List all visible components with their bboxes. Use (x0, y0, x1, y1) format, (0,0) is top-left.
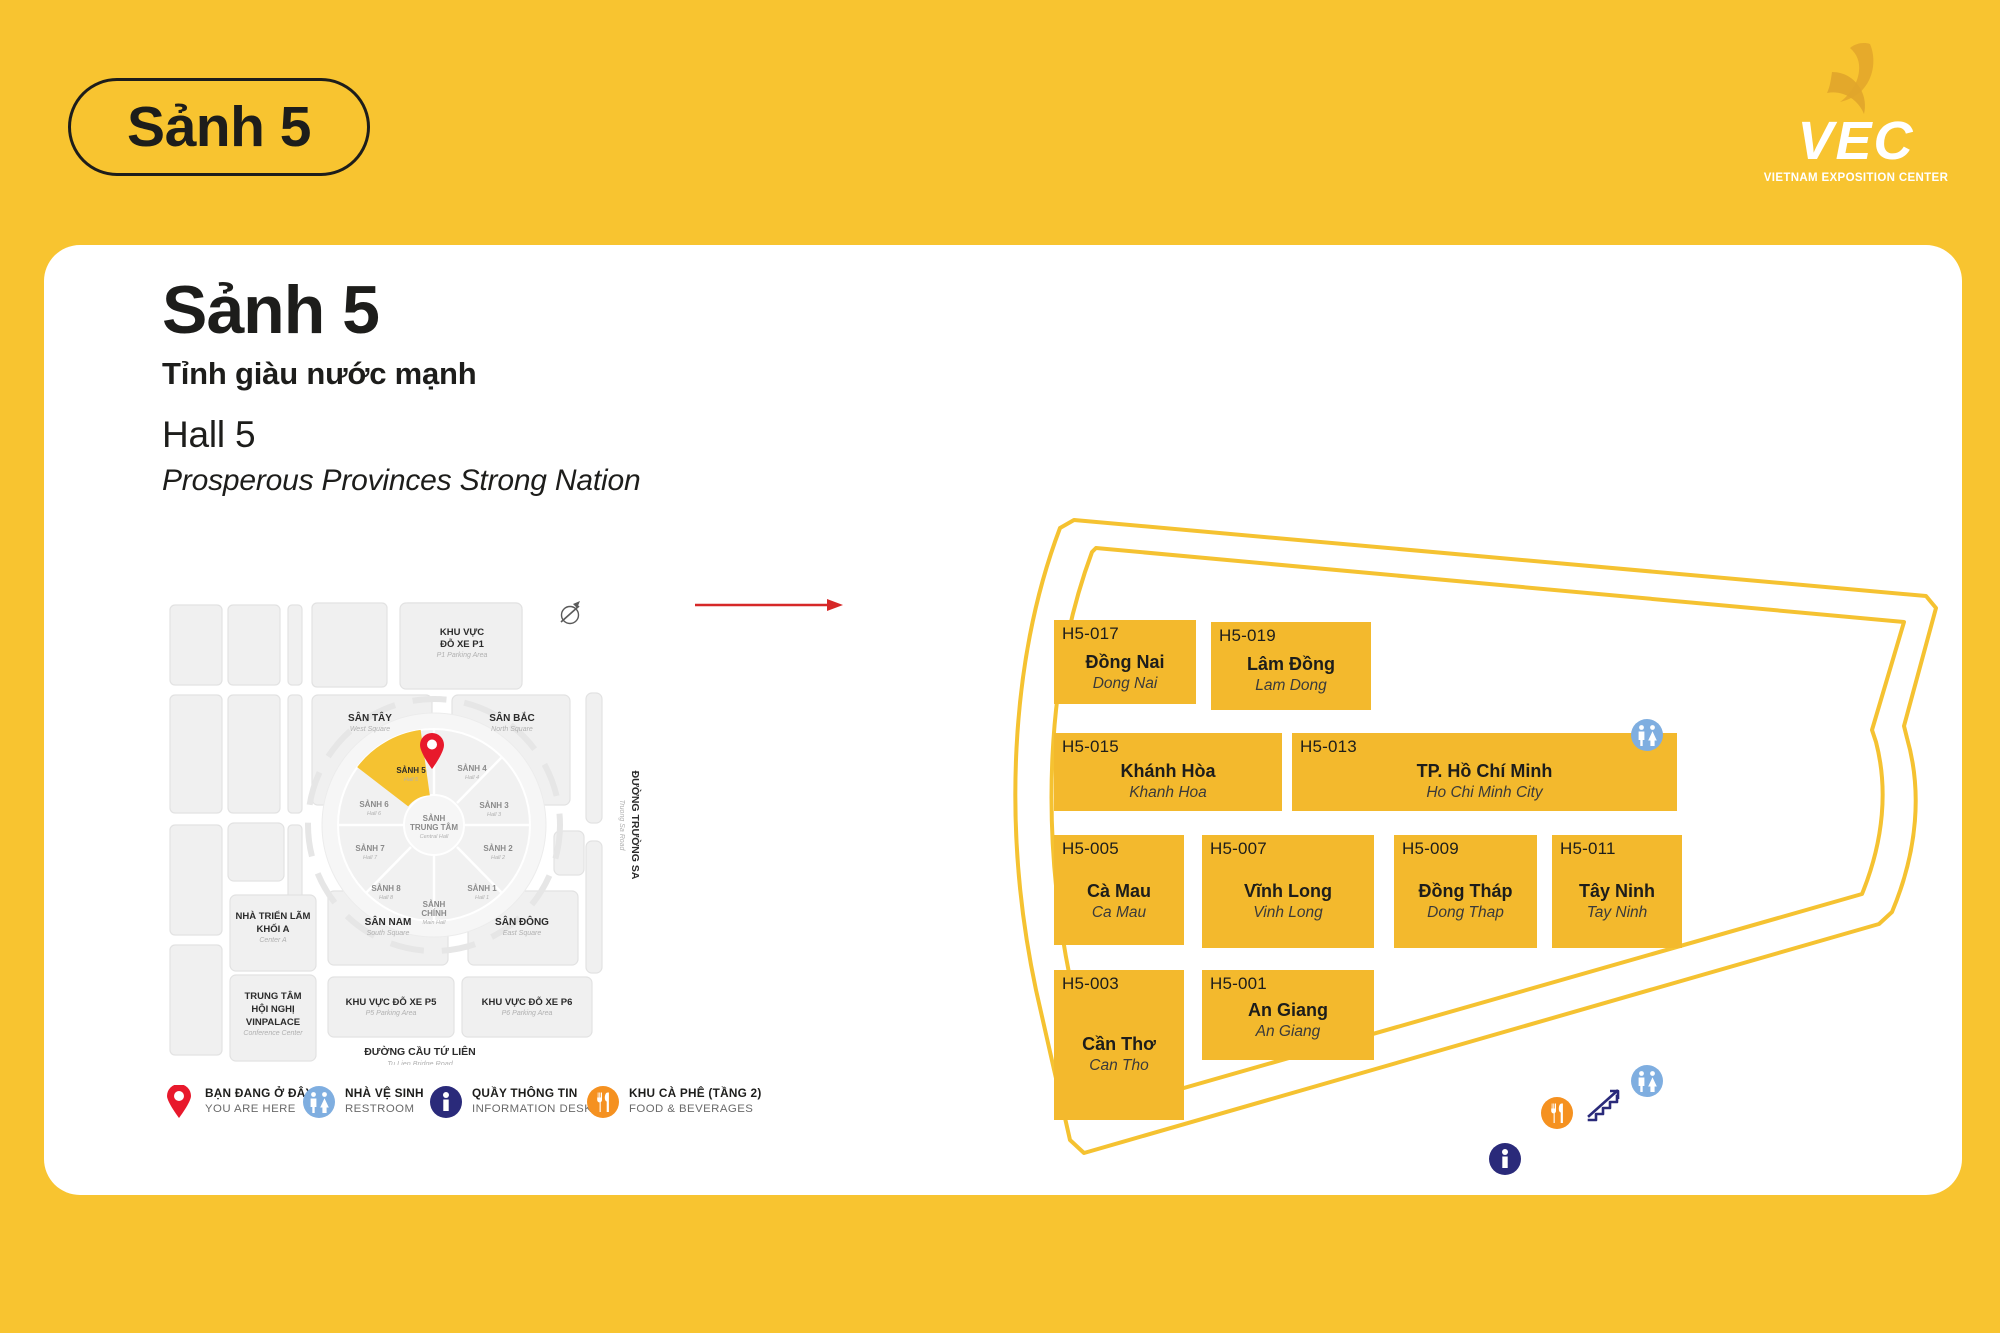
booth-name-en: Dong Nai (1054, 674, 1196, 695)
booth-h5-005[interactable]: H5-005 Cà Mau Ca Mau (1054, 835, 1184, 945)
restroom-icon (1630, 718, 1664, 752)
booth-h5-007[interactable]: H5-007 Vĩnh Long Vinh Long (1202, 835, 1374, 948)
legend-label-en: INFORMATION DESK (472, 1102, 592, 1117)
svg-text:CHÍNH: CHÍNH (421, 909, 447, 918)
site-overview-map[interactable]: KHU VỰC ĐỖ XE P1 P1 Parking Area SÂN TÂY… (162, 595, 722, 1065)
svg-text:Conference Center: Conference Center (243, 1030, 303, 1037)
booth-name-vi: Cà Mau (1054, 879, 1184, 903)
booth-code: H5-017 (1062, 624, 1119, 644)
restroom-icon (1630, 1064, 1664, 1098)
poster-root: Sảnh 5 VEC VIETNAM EXPOSITION CENTER Sản… (0, 0, 2000, 1333)
booth-code: H5-005 (1062, 839, 1119, 859)
booth-name-en: Tay Ninh (1552, 903, 1682, 924)
booth-h5-009[interactable]: H5-009 Đồng Tháp Dong Thap (1394, 835, 1537, 948)
svg-text:NHÀ TRIỂN LÃM: NHÀ TRIỂN LÃM (236, 910, 311, 922)
booth-code: H5-001 (1210, 974, 1267, 994)
booth-name-vi: Tây Ninh (1552, 879, 1682, 903)
legend-item-you-are-here: BẠN ĐANG Ở ĐÂY YOU ARE HERE (162, 1085, 314, 1119)
page-subtitle-en: Prosperous Provinces Strong Nation (162, 464, 922, 498)
booth-name-en: Lam Dong (1211, 676, 1371, 697)
svg-text:SẢNH 5: SẢNH 5 (396, 766, 426, 775)
svg-text:SÂN NAM: SÂN NAM (365, 915, 412, 928)
booth-name-vi: Lâm Đồng (1211, 652, 1371, 676)
vec-wordmark: VEC (1736, 114, 1976, 168)
legend-label-en: RESTROOM (345, 1102, 424, 1117)
svg-text:KHU VỰC ĐỖ XE P6: KHU VỰC ĐỖ XE P6 (482, 996, 573, 1008)
vec-bird-mark-icon (1810, 42, 1906, 118)
booth-h5-013[interactable]: H5-013 TP. Hồ Chí Minh Ho Chi Minh City (1292, 733, 1677, 811)
svg-text:Hall 4: Hall 4 (465, 775, 479, 781)
booth-code: H5-003 (1062, 974, 1119, 994)
svg-text:SÂN TÂY: SÂN TÂY (348, 711, 392, 724)
svg-text:SÂN BẮC: SÂN BẮC (489, 711, 535, 724)
page-title-en: Hall 5 (162, 414, 922, 456)
page-title-vi: Sảnh 5 (162, 275, 922, 346)
svg-text:ĐỖ XE P1: ĐỖ XE P1 (440, 638, 485, 650)
booth-name-en: Vinh Long (1202, 903, 1374, 924)
svg-text:Hall 6: Hall 6 (367, 811, 382, 817)
legend-label-vi: QUẦY THÔNG TIN (472, 1086, 592, 1102)
svg-text:SẢNH: SẢNH (423, 900, 446, 909)
svg-text:Central Hall: Central Hall (420, 834, 450, 840)
svg-text:HỘI NGHỊ: HỘI NGHỊ (251, 1003, 294, 1015)
svg-text:ĐƯỜNG TRƯỜNG SA: ĐƯỜNG TRƯỜNG SA (629, 771, 642, 880)
booth-code: H5-009 (1402, 839, 1459, 859)
svg-text:Hall 5: Hall 5 (404, 777, 419, 783)
booth-name-vi: Cần Thơ (1054, 1032, 1184, 1056)
booth-code: H5-007 (1210, 839, 1267, 859)
booth-h5-001[interactable]: H5-001 An Giang An Giang (1202, 970, 1374, 1060)
information-icon (1488, 1142, 1522, 1176)
svg-text:TRUNG TÂM: TRUNG TÂM (245, 990, 302, 1002)
booth-name-en: An Giang (1202, 1022, 1374, 1043)
svg-text:South Square: South Square (367, 930, 410, 937)
svg-text:West Square: West Square (350, 726, 390, 733)
page-subtitle-vi: Tỉnh giàu nước mạnh (162, 356, 922, 392)
svg-text:Hall 7: Hall 7 (363, 855, 378, 861)
pointer-arrow-icon (695, 595, 845, 615)
booth-name-vi: Vĩnh Long (1202, 879, 1374, 903)
booth-name-vi: An Giang (1202, 998, 1374, 1022)
food-icon (1540, 1096, 1574, 1130)
hall-badge: Sảnh 5 (68, 78, 370, 176)
booth-name-vi: TP. Hồ Chí Minh (1292, 759, 1677, 783)
booth-name-en: Dong Thap (1394, 903, 1537, 924)
information-icon (429, 1085, 463, 1119)
svg-text:Tu Lien Bridge Road: Tu Lien Bridge Road (387, 1059, 453, 1065)
left-panel: Sảnh 5 Tỉnh giàu nước mạnh Hall 5 Prospe… (162, 275, 922, 1165)
svg-text:ĐƯỜNG CẦU TỨ LIÊN: ĐƯỜNG CẦU TỨ LIÊN (364, 1045, 476, 1058)
booth-h5-015[interactable]: H5-015 Khánh Hòa Khanh Hoa (1054, 733, 1282, 811)
svg-text:Truong Sa Road: Truong Sa Road (618, 800, 625, 852)
vec-subtitle: VIETNAM EXPOSITION CENTER (1736, 172, 1976, 184)
svg-text:Main Hall: Main Hall (423, 920, 447, 926)
map-pin-icon (162, 1085, 196, 1119)
legend-label-en: FOOD & BEVERAGES (629, 1102, 762, 1117)
map-legend: BẠN ĐANG Ở ĐÂY YOU ARE HERE NHÀ VỆ SINH (162, 1075, 862, 1135)
booth-h5-017[interactable]: H5-017 Đồng Nai Dong Nai (1054, 620, 1196, 704)
booth-name-en: Ho Chi Minh City (1292, 783, 1677, 804)
svg-text:P6 Parking Area: P6 Parking Area (502, 1010, 553, 1017)
svg-text:SẢNH 4: SẢNH 4 (457, 764, 487, 773)
svg-text:TRUNG TÂM: TRUNG TÂM (410, 823, 458, 832)
legend-label-vi: BẠN ĐANG Ở ĐÂY (205, 1086, 314, 1102)
svg-text:SẢNH 8: SẢNH 8 (371, 884, 401, 893)
svg-text:Hall 2: Hall 2 (491, 855, 505, 861)
svg-text:SẢNH 7: SẢNH 7 (355, 844, 385, 853)
booth-code: H5-011 (1560, 839, 1616, 859)
hall-floor-plan[interactable]: H5-017 Đồng Nai Dong Nai H5-019 Lâm Đồng… (974, 190, 1964, 1200)
compass-icon (561, 601, 580, 624)
svg-text:SẢNH 3: SẢNH 3 (479, 801, 509, 810)
escalator-icon (1585, 1086, 1627, 1126)
svg-text:KHU VỰC ĐỖ XE P5: KHU VỰC ĐỖ XE P5 (346, 996, 437, 1008)
booth-code: H5-013 (1300, 737, 1357, 757)
booth-name-en: Khanh Hoa (1054, 783, 1282, 804)
booth-name-en: Can Tho (1054, 1056, 1184, 1077)
hall-badge-label: Sảnh 5 (127, 94, 311, 160)
content-card: Sảnh 5 Tỉnh giàu nước mạnh Hall 5 Prospe… (44, 245, 1962, 1195)
booth-name-vi: Đồng Nai (1054, 650, 1196, 674)
svg-text:Hall 1: Hall 1 (475, 895, 489, 901)
booth-h5-011[interactable]: H5-011 Tây Ninh Tay Ninh (1552, 835, 1682, 948)
svg-text:KHỐI A: KHỐI A (257, 923, 290, 935)
booth-code: H5-015 (1062, 737, 1119, 757)
svg-text:SẢNH 1: SẢNH 1 (467, 884, 497, 893)
legend-label-en: YOU ARE HERE (205, 1102, 314, 1117)
booth-name-vi: Khánh Hòa (1054, 759, 1282, 783)
legend-item-restroom: NHÀ VỆ SINH RESTROOM (302, 1085, 424, 1119)
food-icon (586, 1085, 620, 1119)
legend-item-food: KHU CÀ PHÊ (TẦNG 2) FOOD & BEVERAGES (586, 1085, 762, 1119)
svg-text:P1 Parking Area: P1 Parking Area (437, 652, 488, 659)
svg-text:SẢNH 6: SẢNH 6 (359, 800, 389, 809)
booth-name-en: Ca Mau (1054, 903, 1184, 924)
svg-text:Hall 3: Hall 3 (487, 812, 502, 818)
svg-text:SẢNH 2: SẢNH 2 (483, 844, 513, 853)
legend-label-vi: NHÀ VỆ SINH (345, 1086, 424, 1102)
legend-label-vi: KHU CÀ PHÊ (TẦNG 2) (629, 1086, 762, 1102)
booth-h5-003[interactable]: H5-003 Cần Thơ Can Tho (1054, 970, 1184, 1120)
svg-text:P5 Parking Area: P5 Parking Area (366, 1010, 417, 1017)
booth-name-vi: Đồng Tháp (1394, 879, 1537, 903)
booth-code: H5-019 (1219, 626, 1276, 646)
restroom-icon (302, 1085, 336, 1119)
svg-text:North Square: North Square (491, 726, 533, 733)
svg-text:VINPALACE: VINPALACE (246, 1017, 300, 1028)
svg-text:Hall 8: Hall 8 (379, 895, 394, 901)
legend-item-information: QUẦY THÔNG TIN INFORMATION DESK (429, 1085, 592, 1119)
svg-text:SẢNH: SẢNH (423, 814, 446, 823)
vec-logo: VEC VIETNAM EXPOSITION CENTER (1736, 40, 1976, 180)
svg-text:SÂN ĐÔNG: SÂN ĐÔNG (495, 915, 549, 928)
svg-text:KHU VỰC: KHU VỰC (440, 627, 484, 638)
svg-text:East Square: East Square (503, 930, 542, 937)
svg-text:Center A: Center A (259, 937, 287, 944)
booth-h5-019[interactable]: H5-019 Lâm Đồng Lam Dong (1211, 622, 1371, 710)
